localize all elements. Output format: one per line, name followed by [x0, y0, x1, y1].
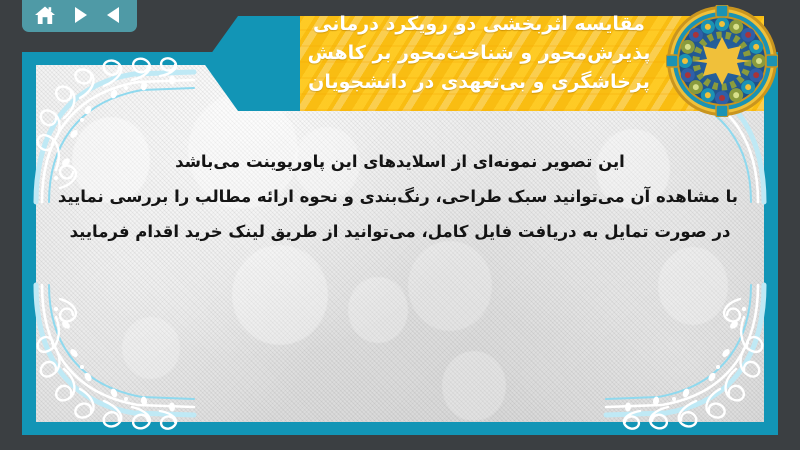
previous-slide-button[interactable]: [100, 2, 128, 28]
slide-body-text: این تصویر نمونه‌ای از اسلایدهای این پاور…: [62, 144, 738, 249]
bokeh-circle: [442, 351, 506, 421]
bokeh-circle: [122, 317, 180, 379]
body-line-2: با مشاهده آن می‌توانید سبک طراحی، رنگ‌بن…: [62, 179, 738, 214]
triangle-right-icon: [70, 5, 90, 25]
home-icon: [34, 5, 56, 26]
body-line-1: این تصویر نمونه‌ای از اسلایدهای این پاور…: [62, 144, 738, 179]
slide-viewer: این تصویر نمونه‌ای از اسلایدهای این پاور…: [0, 0, 800, 450]
bokeh-circle: [408, 241, 492, 331]
bokeh-circle: [348, 277, 408, 343]
bokeh-circle: [658, 247, 728, 325]
mandala-rosette-icon: [666, 5, 778, 117]
body-line-3: در صورت تمایل به دریافت فایل کامل، می‌تو…: [62, 214, 738, 249]
triangle-left-icon: [104, 5, 124, 25]
home-button[interactable]: [31, 2, 59, 28]
next-slide-button[interactable]: [66, 2, 94, 28]
slide-navigation-bar: [22, 0, 137, 32]
bokeh-circle: [232, 245, 328, 345]
